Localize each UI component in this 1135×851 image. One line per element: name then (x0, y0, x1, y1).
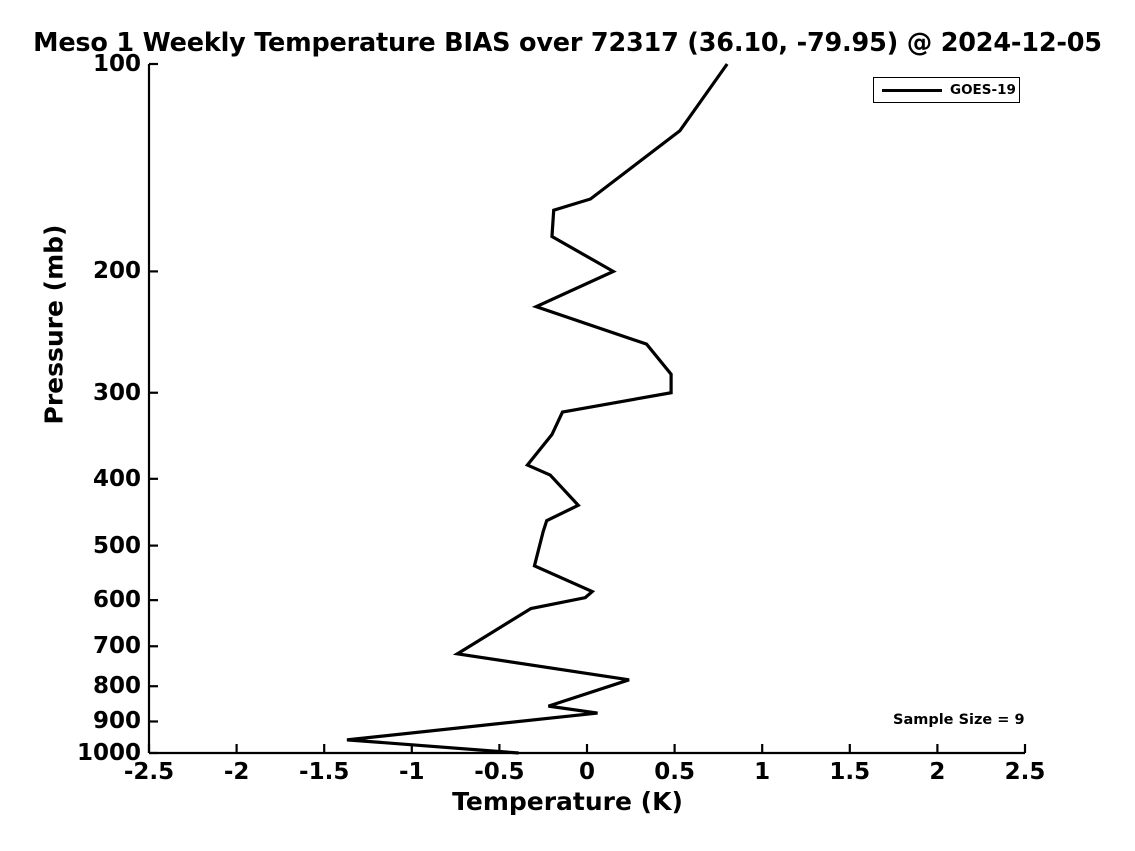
x-tick-label: 0 (579, 759, 595, 785)
legend-line-swatch (882, 89, 942, 92)
y-tick-label: 100 (0, 51, 141, 77)
legend-entry-label: GOES-19 (950, 82, 1016, 98)
sample-size-annotation: Sample Size = 9 (893, 712, 1025, 728)
x-tick-label: 1.5 (829, 759, 870, 785)
y-tick-label: 800 (0, 673, 141, 699)
legend: GOES-19 (873, 77, 1020, 103)
y-tick-label: 1000 (0, 740, 141, 766)
x-tick-label: 2.5 (1005, 759, 1046, 785)
chart-figure: Meso 1 Weekly Temperature BIAS over 7231… (0, 0, 1135, 851)
x-tick-label: -2.5 (124, 759, 174, 785)
x-tick-label: -1 (399, 759, 425, 785)
y-tick-label: 700 (0, 633, 141, 659)
y-tick-label: 600 (0, 587, 141, 613)
x-tick-label: -0.5 (474, 759, 524, 785)
x-tick-label: 1 (754, 759, 770, 785)
x-tick-label: -2 (224, 759, 250, 785)
x-tick-label: 0.5 (654, 759, 695, 785)
data-line-goes-19 (347, 64, 727, 753)
x-tick-label: -1.5 (299, 759, 349, 785)
y-axis-label: Pressure (mb) (40, 225, 69, 425)
x-axis-label: Temperature (K) (0, 787, 1135, 816)
data-series-group (347, 64, 727, 753)
y-tick-label: 900 (0, 708, 141, 734)
y-tick-label: 200 (0, 258, 141, 284)
y-tick-label: 400 (0, 466, 141, 492)
x-tick-label: 2 (929, 759, 945, 785)
y-tick-label: 300 (0, 380, 141, 406)
y-tick-label: 500 (0, 533, 141, 559)
